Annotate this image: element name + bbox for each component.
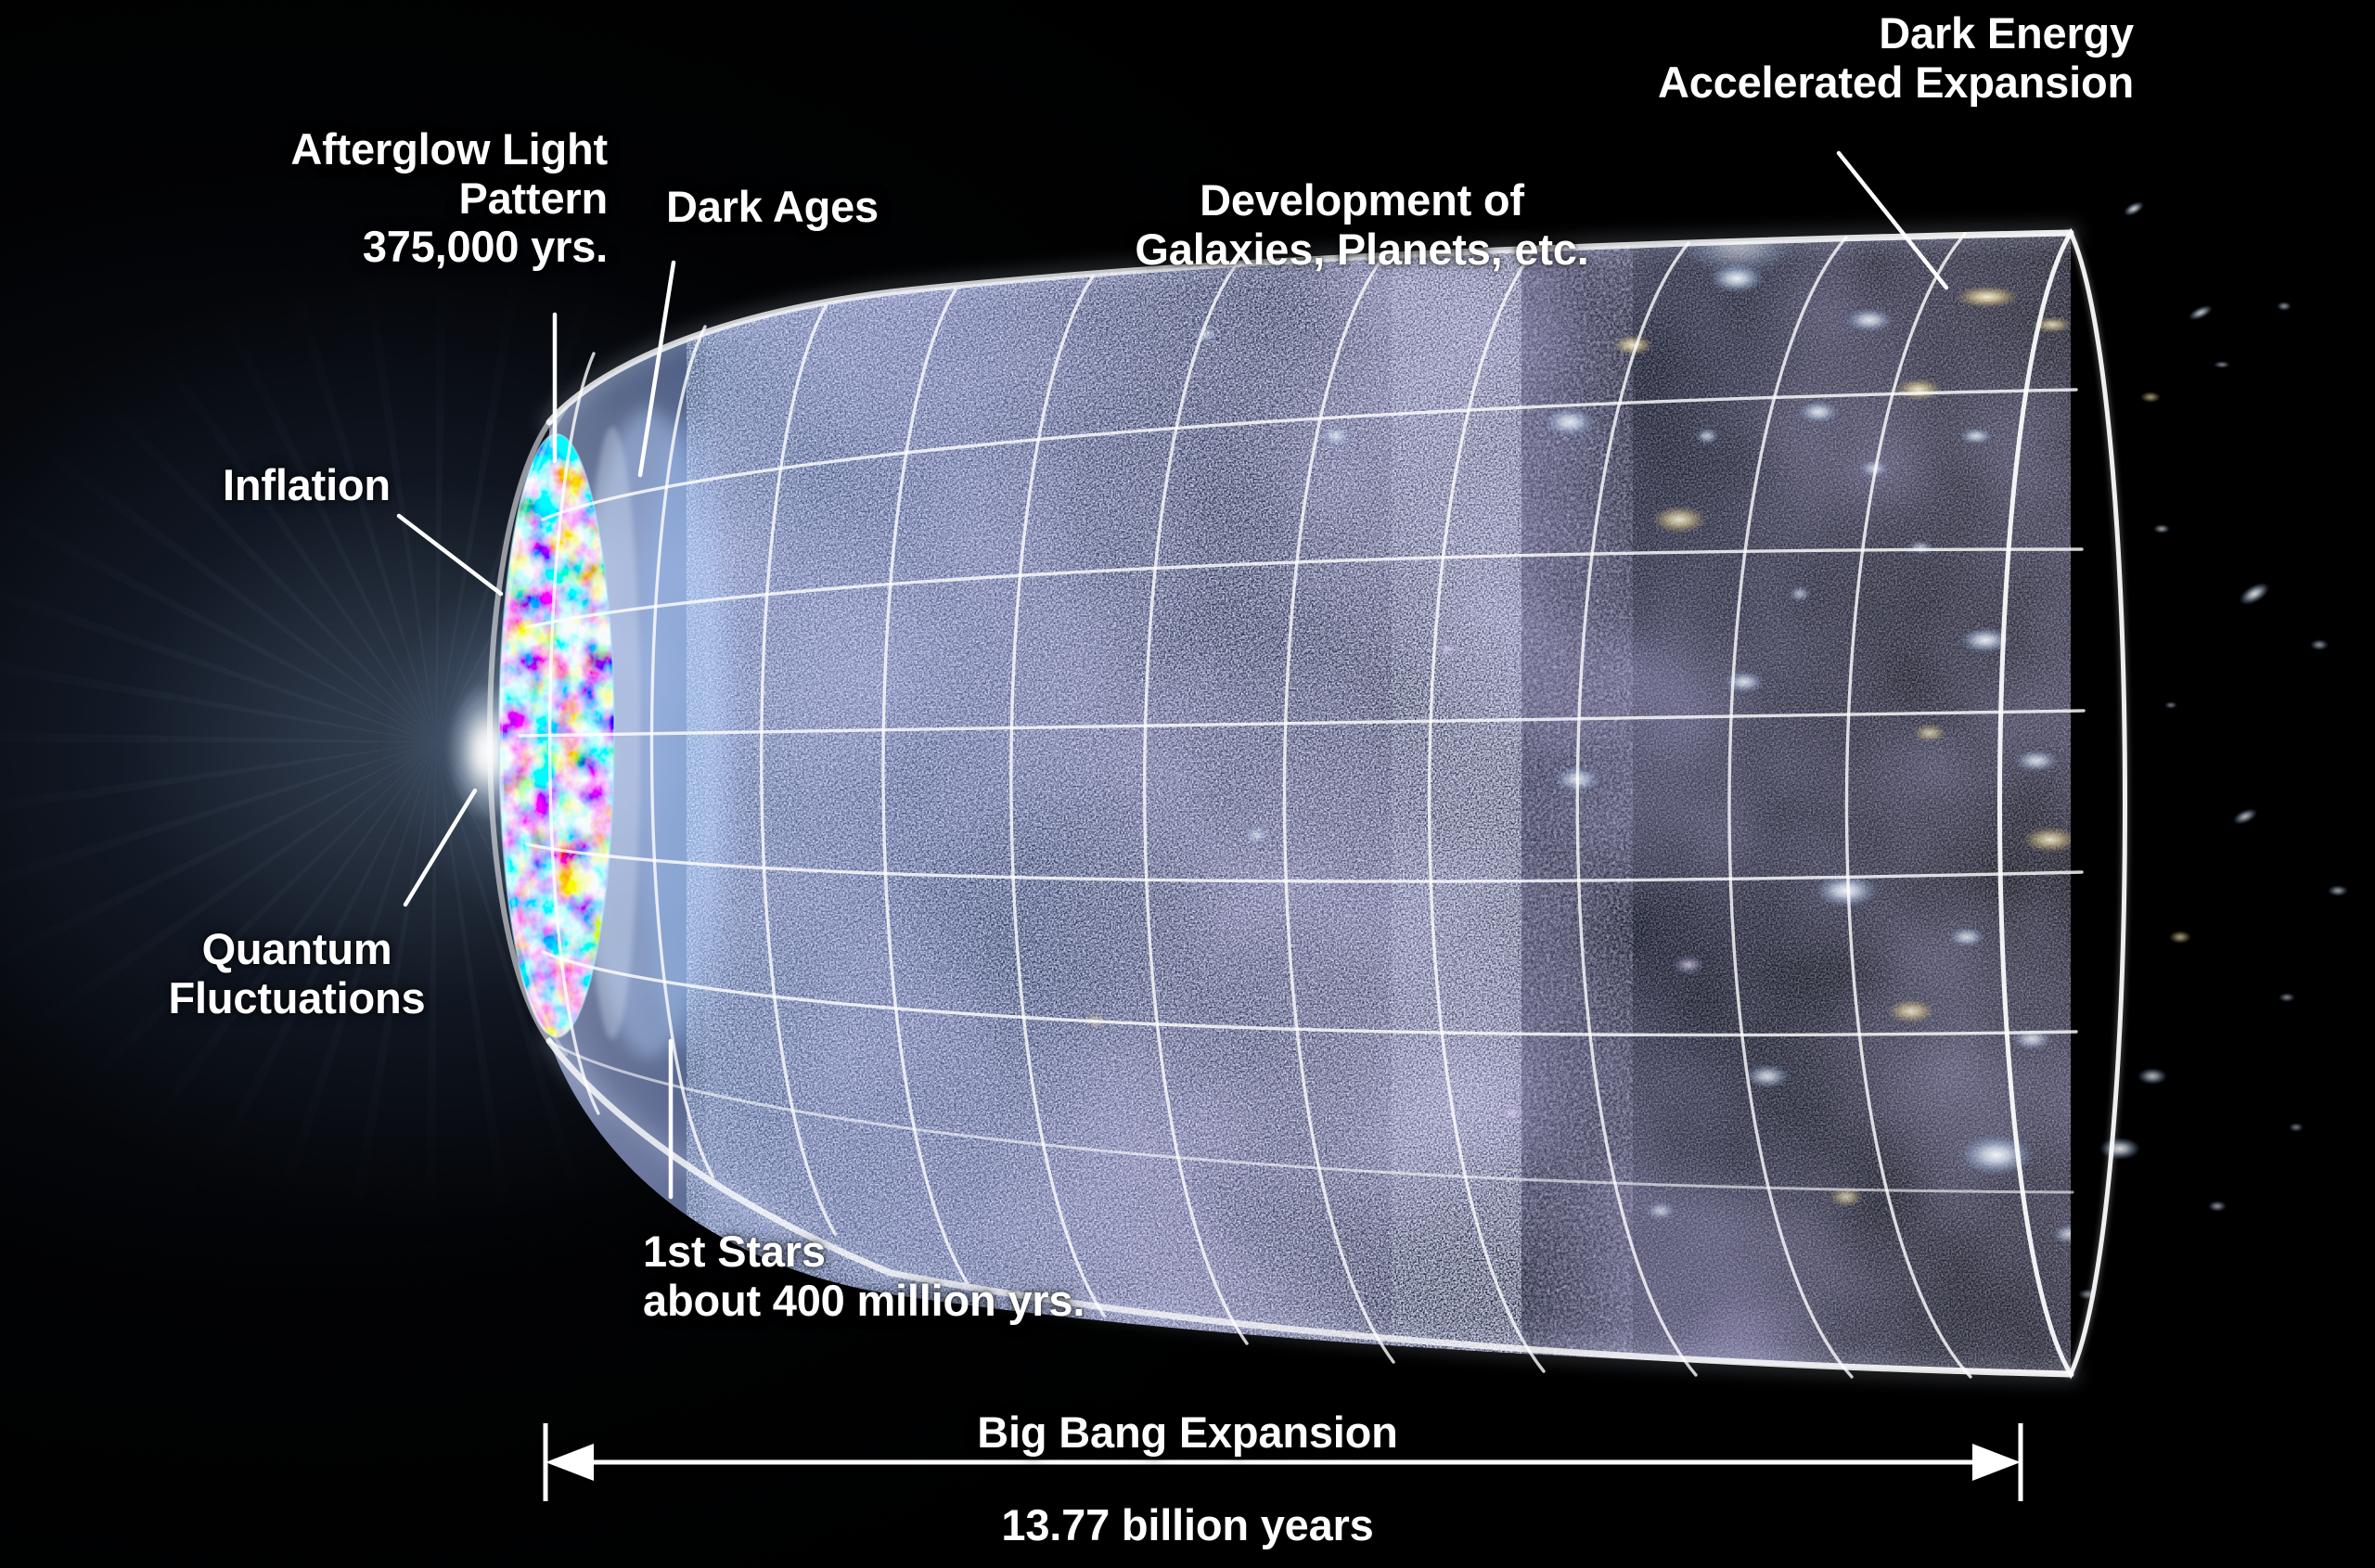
label-first-stars: 1st Stars about 400 million yrs. [643,1227,1085,1325]
leader-inflation [399,516,501,594]
label-big-bang-expansion: Big Bang Expansion [0,1408,2375,1458]
leader-quantum [405,790,475,905]
label-quantum-fluctuations: Quantum Fluctuations [135,925,459,1022]
label-development-of-galaxies: Development of Galaxies, Planets, etc. [1084,176,1640,274]
label-dark-energy: Dark Energy Accelerated Expansion [1466,9,2134,107]
label-dark-ages: Dark Ages [666,183,879,232]
label-universe-age: 13.77 billion years [0,1501,2375,1550]
label-afterglow-light-pattern: Afterglow Light Pattern 375,000 yrs. [172,125,608,272]
label-inflation: Inflation [223,461,391,510]
universe-timeline-figure: Afterglow Light Pattern 375,000 yrs. Dar… [0,0,2375,1568]
